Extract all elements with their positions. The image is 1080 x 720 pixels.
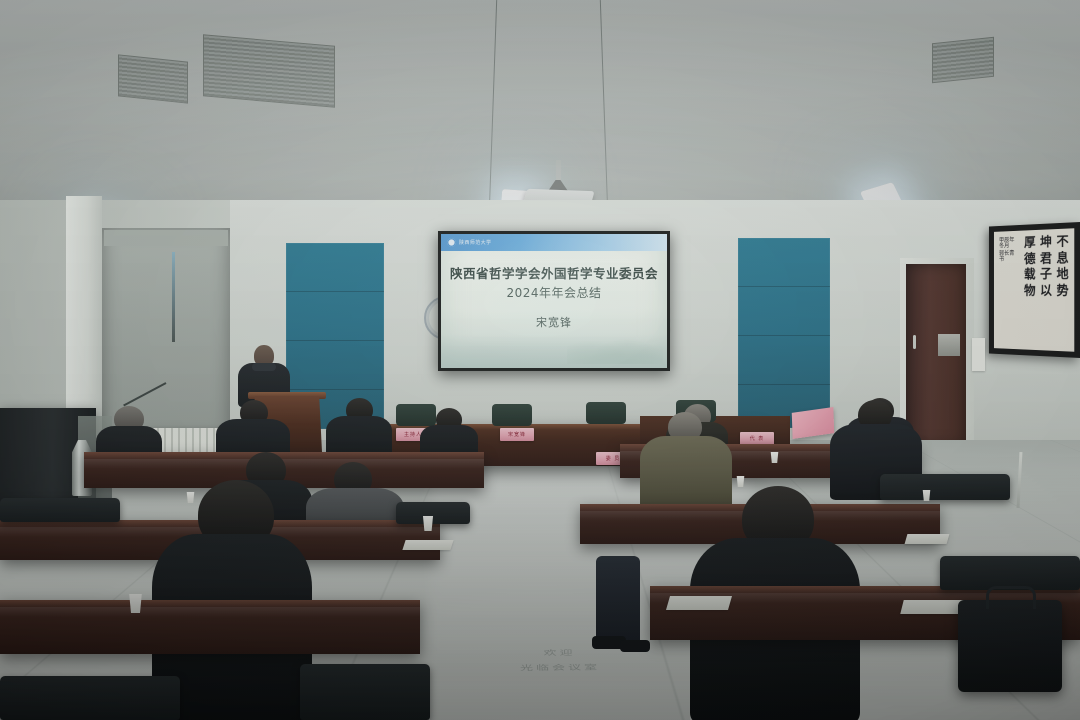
document-paper xyxy=(666,596,732,610)
conference-room-photo: 院 ...ity 陕西师范大学 陕西省哲学学会外国哲学专业委员会 2024年年会… xyxy=(0,0,1080,720)
calligraphy-column-2: 坤 君 子 以 xyxy=(1040,236,1052,344)
slide-logo-text: 陕西师范大学 xyxy=(459,239,491,246)
calligraphy-char: 子 xyxy=(1040,269,1052,282)
name-placard-text: 宋宽锋 xyxy=(508,431,526,438)
audience-chair[interactable] xyxy=(300,664,430,720)
slide-header-band: 陕西师范大学 xyxy=(441,234,667,251)
slide-title-line2: 2024年年会总结 xyxy=(506,284,601,301)
desk-surface xyxy=(0,600,420,607)
slide-bottom-haze xyxy=(441,334,667,368)
desk-sheen xyxy=(0,607,420,617)
slide-title-line1: 陕西省哲学学会外国哲学专业委员会 xyxy=(450,265,658,283)
university-seal-logo xyxy=(447,238,456,247)
microphone-stand xyxy=(172,252,175,342)
projection-screen: 陕西师范大学 陕西省哲学学会外国哲学专业委员会 2024年年会总结 宋宽锋 xyxy=(441,234,667,368)
projection-screen-frame: 陕西师范大学 陕西省哲学学会外国哲学专业委员会 2024年年会总结 宋宽锋 xyxy=(438,231,670,371)
walking-person-shoe xyxy=(620,640,650,652)
document-paper xyxy=(402,540,453,550)
calligraphy-char: 不 xyxy=(1056,235,1068,249)
calligraphy-char: 德 xyxy=(1024,253,1036,266)
calligraphy-column-3: 厚 德 载 物 xyxy=(1024,237,1036,343)
calligraphy-signature-line: 郭长青书 xyxy=(999,250,1020,262)
door-notice-sheet xyxy=(972,338,985,371)
calligraphy-signature: 甲辰年冬月 郭长青书 xyxy=(999,237,1020,262)
audience-chair[interactable] xyxy=(940,556,1080,590)
document-paper xyxy=(905,534,950,544)
presidium-chair[interactable] xyxy=(492,404,532,426)
calligraphy-signature-line: 甲辰年冬月 xyxy=(999,237,1020,250)
name-placard-text: 代 表 xyxy=(750,435,765,442)
calligraphy-column-1: 不 息 地 势 xyxy=(1056,235,1068,344)
audience-chair[interactable] xyxy=(880,474,1010,500)
audience-desk-row-c xyxy=(0,600,420,654)
calligraphy-char: 坤 xyxy=(1040,236,1052,250)
calligraphy-char: 息 xyxy=(1056,252,1068,266)
calligraphy-paper: 不 息 地 势 坤 君 子 以 厚 德 载 物 甲辰年冬月 郭长青书 xyxy=(994,228,1074,351)
audience-chair[interactable] xyxy=(0,498,120,522)
door-handle[interactable] xyxy=(913,335,916,349)
name-placard: 宋宽锋 xyxy=(500,428,534,441)
audience-chair[interactable] xyxy=(396,502,470,524)
window-frame xyxy=(104,230,228,246)
presidium-chair[interactable] xyxy=(586,402,626,424)
door-glass-pane xyxy=(938,334,960,356)
blue-wall-panel-right xyxy=(738,238,830,428)
audience-chair[interactable] xyxy=(0,676,180,720)
calligraphy-char: 以 xyxy=(1040,285,1052,298)
calligraphy-char: 势 xyxy=(1056,285,1068,299)
calligraphy-char: 厚 xyxy=(1024,237,1036,251)
luggage-bag-handle xyxy=(986,586,1036,609)
name-placard-text: 委 员 xyxy=(606,455,621,462)
walking-person-legs xyxy=(596,556,640,666)
presenter-collar xyxy=(252,363,276,371)
calligraphy-frame: 不 息 地 势 坤 君 子 以 厚 德 载 物 甲辰年冬月 郭长青书 xyxy=(989,222,1080,358)
luggage-bag xyxy=(958,600,1062,692)
calligraphy-char: 载 xyxy=(1024,269,1036,282)
calligraphy-char: 物 xyxy=(1024,285,1036,298)
calligraphy-char: 地 xyxy=(1056,268,1068,282)
calligraphy-char: 君 xyxy=(1040,252,1052,266)
walking-person-trousers xyxy=(596,556,640,642)
